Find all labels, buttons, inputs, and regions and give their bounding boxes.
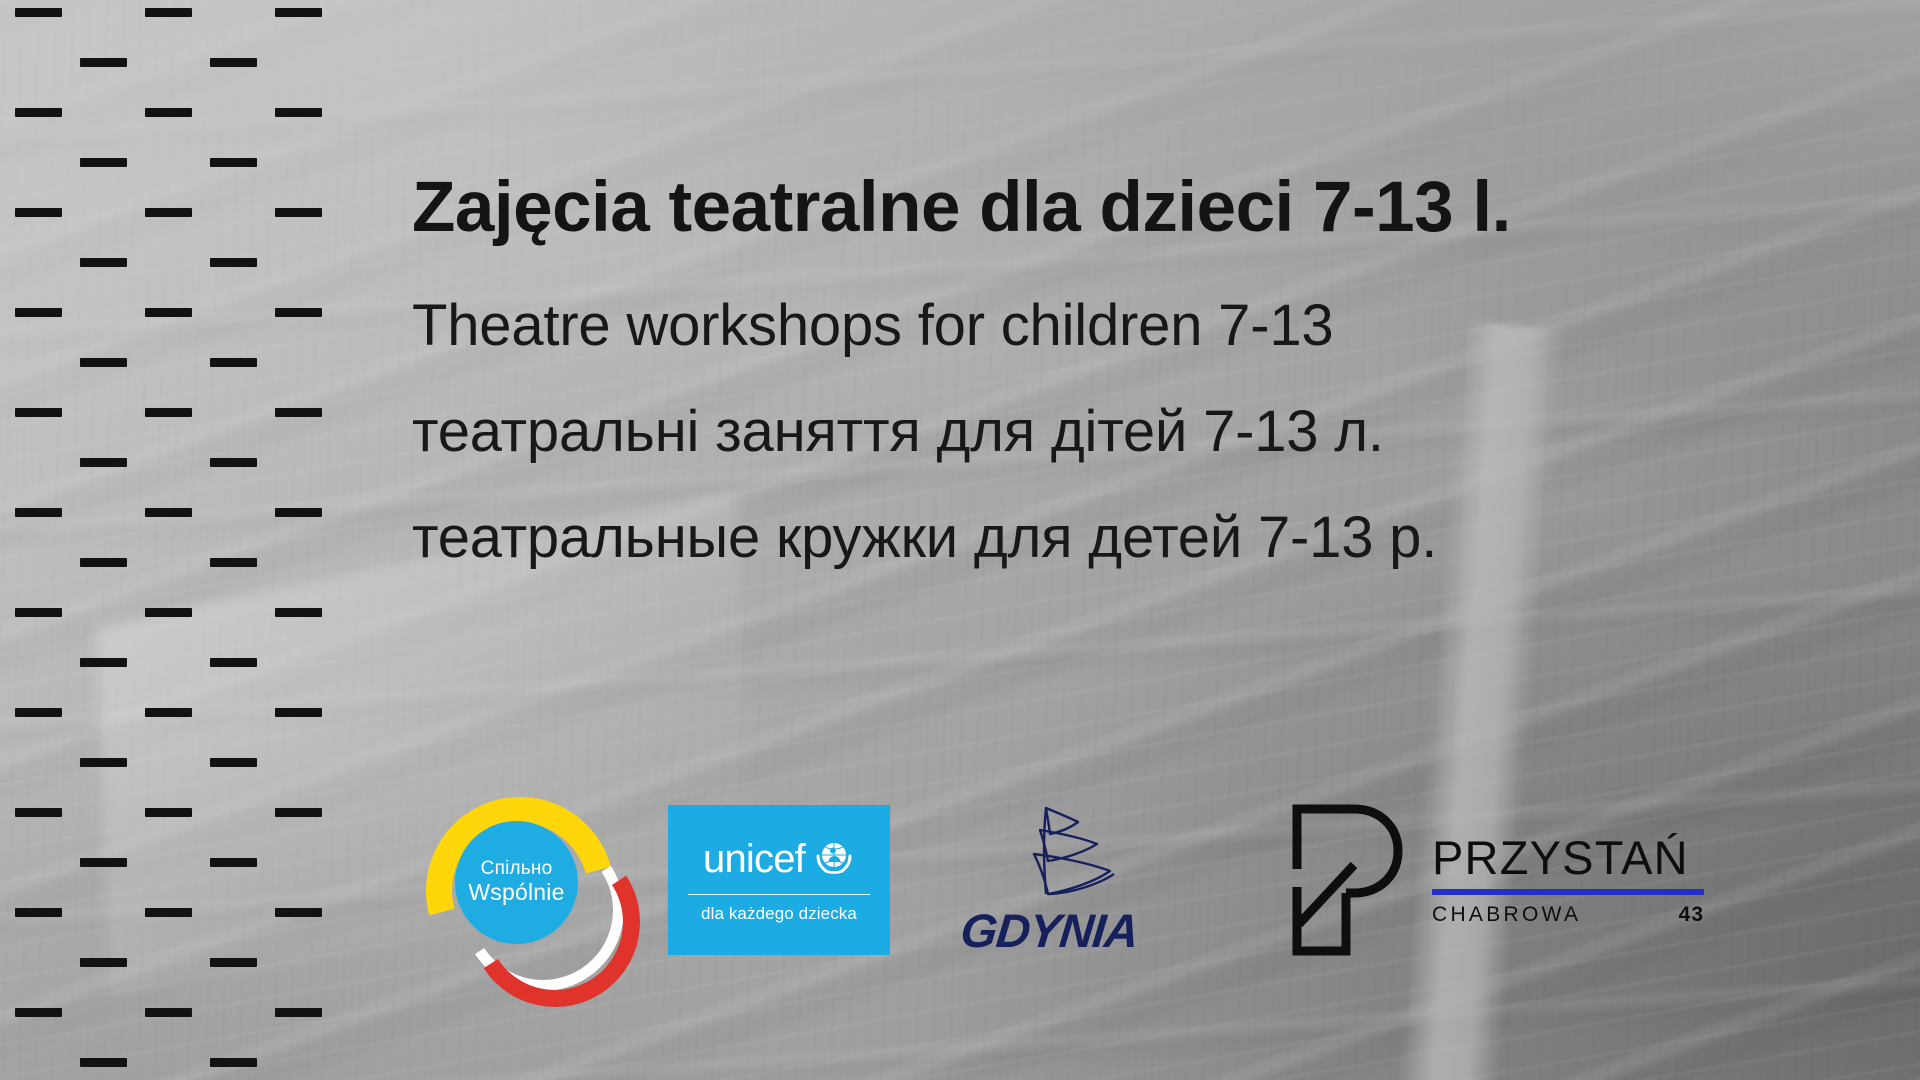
poster-canvas: Zajęcia teatralne dla dzieci 7-13 l. The… [0, 0, 1920, 1080]
logo-gdynia: GDYNIA [936, 800, 1162, 960]
spilno-label-pl: Wspólnie [468, 880, 564, 906]
przystan-p-mark-icon [1288, 797, 1410, 964]
unicef-wordmark-row: unicef [703, 836, 855, 883]
przystan-bottom-row: CHABROWA 43 [1432, 903, 1704, 927]
subtitle-en: Theatre workshops for children 7-13 [412, 297, 1892, 355]
gdynia-wordmark: GDYNIA [958, 907, 1140, 954]
unicef-divider [688, 894, 870, 896]
przystan-blue-rule [1432, 889, 1704, 895]
przystan-number: 43 [1679, 903, 1704, 927]
spilno-label-uk: Спільно [481, 858, 553, 879]
gdynia-sailing-ship-icon [954, 802, 1144, 907]
sponsor-logo-strip: Спільно Wspólnie unicef [418, 790, 1704, 970]
subtitle-ru: театральные кружки для детей 7-13 р. [412, 509, 1892, 567]
headline-block: Zajęcia teatralne dla dzieci 7-13 l. The… [412, 172, 1892, 567]
spilno-blue-circle: Спільно Wspólnie [455, 821, 578, 944]
subtitle-uk: театральні заняття для дітей 7-13 л. [412, 403, 1892, 461]
przystan-subtitle: CHABROWA [1432, 903, 1581, 927]
unicef-emblem-icon [813, 836, 855, 883]
page-title: Zajęcia teatralne dla dzieci 7-13 l. [412, 172, 1892, 243]
logo-unicef: unicef dla każdego [668, 805, 890, 955]
unicef-tagline: dla każdego dziecka [701, 904, 857, 924]
przystan-title: PRZYSTAŃ [1432, 834, 1704, 881]
logo-przystan-chabrowa: PRZYSTAŃ CHABROWA 43 [1288, 797, 1704, 964]
przystan-wordblock: PRZYSTAŃ CHABROWA 43 [1432, 834, 1704, 927]
logo-spilno-wspolnie: Спільно Wspólnie [418, 793, 628, 968]
unicef-wordmark: unicef [703, 839, 805, 879]
